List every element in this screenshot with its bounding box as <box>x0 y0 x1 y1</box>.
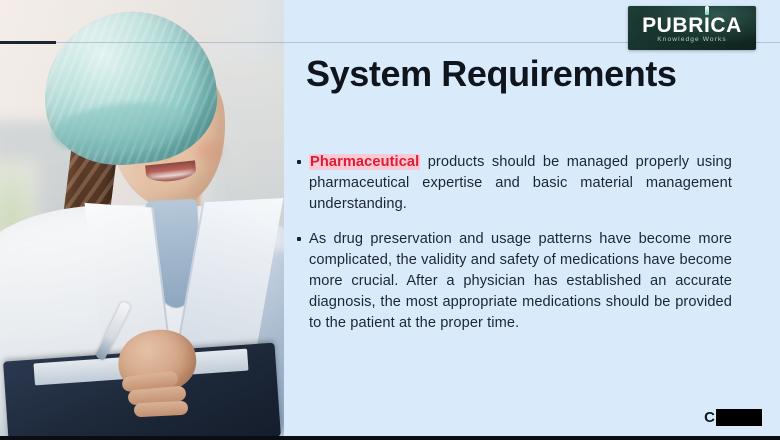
logo-wordmark: PUBRICA <box>628 15 756 36</box>
pipette-icon <box>705 6 709 15</box>
list-item-text: Pharmaceutical products should be manage… <box>309 152 732 215</box>
highlight-keyword: Pharmaceutical <box>309 154 420 170</box>
watermark-letter: C <box>704 409 715 426</box>
logo-letter-i: I <box>704 14 710 37</box>
cheek <box>196 140 222 162</box>
list-item-text: As drug preservation and usage patterns … <box>309 229 732 334</box>
pubrica-logo[interactable]: PUBRICA Knowledge Works <box>628 6 756 50</box>
bullet-list: Pharmaceutical products should be manage… <box>294 152 732 348</box>
bottom-bar <box>0 436 780 440</box>
redaction-box <box>716 409 762 426</box>
page-title: System Requirements <box>306 54 736 94</box>
accent-rule <box>0 41 56 44</box>
bullet-marker-icon <box>297 237 301 241</box>
list-item: Pharmaceutical products should be manage… <box>294 152 732 215</box>
slide-root: System Requirements Pharmaceutical produ… <box>0 0 780 440</box>
logo-word-part1: PUBR <box>642 14 704 37</box>
watermark-redacted: C <box>704 409 762 426</box>
logo-tagline: Knowledge Works <box>628 36 756 43</box>
list-item: As drug preservation and usage patterns … <box>294 229 732 334</box>
content-panel: System Requirements Pharmaceutical produ… <box>284 0 780 440</box>
logo-word-part2: CA <box>710 14 742 37</box>
finger <box>134 401 189 418</box>
list-item-body: As drug preservation and usage patterns … <box>309 231 732 331</box>
logo-letter-i-glyph: I <box>704 14 710 37</box>
bullet-marker-icon <box>297 160 301 164</box>
hero-photo <box>0 0 284 440</box>
